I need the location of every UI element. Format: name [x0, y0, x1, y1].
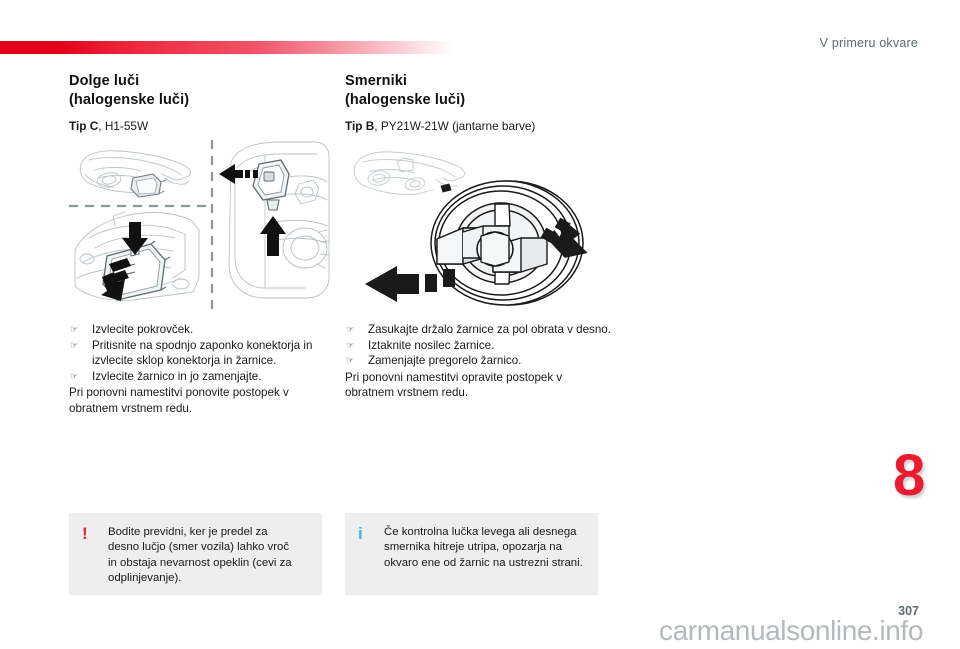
warning-line-1: Bodite previdni, ker je predel za	[108, 525, 308, 540]
step-text: Izvlecite žarnico in jo zamenjajte.	[92, 369, 341, 385]
information-callout: i Če kontrolna lučka levega ali desnega …	[345, 513, 598, 595]
steps-list-high-beam: ☞ Izvlecite pokrovček. ☞ Pritisnite na s…	[69, 322, 341, 417]
step-text: Iztaknite nosilec žarnice.	[368, 338, 617, 354]
list-item: ☞ Iztaknite nosilec žarnice.	[345, 338, 617, 354]
list-item: ☞ Zasukajte držalo žarnice za pol obrata…	[345, 322, 617, 338]
section-title-line1: Dolge luči	[69, 72, 337, 91]
info-line-2: smernika hitreje utripa, opozarja na	[384, 540, 584, 555]
section-title-line2: (halogenske luči)	[345, 91, 613, 110]
bulb-type-label: Tip C	[69, 119, 98, 133]
step-text: Zasukajte držalo žarnice za pol obrata v…	[368, 322, 617, 338]
section-high-beam: Dolge luči (halogenske luči) Tip C, H1-5…	[69, 72, 337, 134]
bullet-pointer-icon: ☞	[345, 338, 368, 354]
information-callout-text: Če kontrolna lučka levega ali desnega sm…	[384, 525, 584, 571]
steps-list-turn-signals: ☞ Zasukajte držalo žarnice za pol obrata…	[345, 322, 617, 401]
closing-note: Pri ponovni namestitvi opravite postopek…	[345, 370, 617, 401]
warning-line-2: desno lučjo (smer vozila) lahko vroč	[108, 540, 308, 555]
closing-line-2: obratnem vrstnem redu.	[345, 385, 617, 401]
list-item: ☞ Zamenjajte pregorelo žarnico.	[345, 353, 617, 369]
bullet-pointer-icon: ☞	[69, 322, 92, 338]
warning-callout-text: Bodite previdni, ker je predel za desno …	[108, 525, 308, 586]
page-header-title: V primeru okvare	[820, 36, 918, 50]
section-turn-signals: Smerniki (halogenske luči) Tip B, PY21W-…	[345, 72, 613, 134]
step-text: Zamenjajte pregorelo žarnico.	[368, 353, 617, 369]
high-beam-bulb-illustration	[69, 138, 331, 313]
bulb-type-line: Tip C, H1-55W	[69, 118, 337, 134]
section-title-line2: (halogenske luči)	[69, 91, 337, 110]
warning-line-4: odplinjevanje).	[108, 571, 308, 586]
bullet-pointer-icon: ☞	[345, 353, 368, 369]
bullet-pointer-icon: ☞	[69, 369, 92, 385]
info-line-1: Če kontrolna lučka levega ali desnega	[384, 525, 584, 540]
bulb-type-spec: , PY21W-21W (jantarne barve)	[374, 119, 535, 133]
closing-note: Pri ponovni namestitvi ponovite postopek…	[69, 385, 341, 416]
warning-line-3: in obstaja nevarnost opeklin (cevi za	[108, 556, 308, 571]
header-accent-bar	[0, 41, 452, 54]
section-title-line1: Smerniki	[345, 72, 613, 91]
information-icon: i	[356, 525, 384, 542]
bullet-pointer-icon: ☞	[69, 338, 92, 354]
bulb-type-line: Tip B, PY21W-21W (jantarne barve)	[345, 118, 613, 134]
info-line-3: okvaro ene od žarnic na ustrezni strani.	[384, 556, 584, 571]
chapter-number-marker: 8	[893, 447, 924, 505]
site-watermark: carmanualsonline.info	[659, 615, 923, 647]
step-text: Izvlecite pokrovček.	[92, 322, 341, 338]
list-item: ☞ Izvlecite žarnico in jo zamenjajte.	[69, 369, 341, 385]
closing-line-2: obratnem vrstnem redu.	[69, 401, 341, 417]
exclamation-mark-icon: !	[80, 525, 108, 542]
closing-line-1: Pri ponovni namestitvi ponovite postopek…	[69, 385, 341, 401]
list-item: ☞ Pritisnite na spodnjo zaponko konektor…	[69, 338, 341, 369]
bullet-pointer-icon: ☞	[345, 322, 368, 338]
step-text: Pritisnite na spodnjo zaponko konektorja…	[92, 338, 341, 369]
warning-callout: ! Bodite previdni, ker je predel za desn…	[69, 513, 322, 595]
turn-signal-bulb-illustration	[345, 138, 605, 313]
closing-line-1: Pri ponovni namestitvi opravite postopek…	[345, 370, 617, 386]
list-item: ☞ Izvlecite pokrovček.	[69, 322, 341, 338]
bulb-type-label: Tip B	[345, 119, 374, 133]
bulb-type-spec: , H1-55W	[98, 119, 148, 133]
